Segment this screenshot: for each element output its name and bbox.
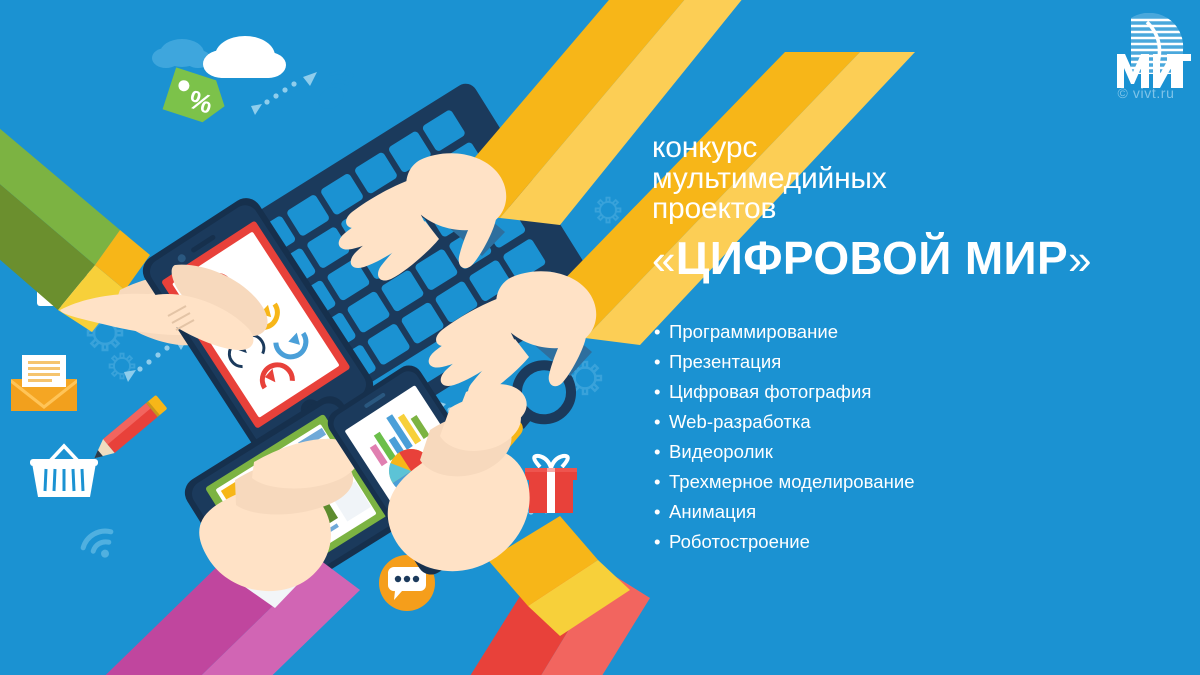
list-item: •Роботостроение (652, 527, 1152, 557)
title-quote-close: » (1068, 236, 1092, 283)
title-text: ЦИФРОВОЙ МИР (676, 232, 1068, 284)
list-item-label: Цифровая фотография (669, 381, 871, 402)
bullet-marker: • (654, 377, 661, 407)
list-item: •Цифровая фотография (652, 377, 1152, 407)
list-item-label: Анимация (669, 501, 756, 522)
list-item: •Видеоролик (652, 437, 1152, 467)
bullet-marker: • (654, 407, 661, 437)
promo-banner: % (0, 0, 1200, 675)
page-title: «ЦИФРОВОЙ МИР» (652, 232, 1152, 286)
bullet-marker: • (654, 347, 661, 377)
category-list: •Программирование •Презентация •Цифровая… (652, 317, 1152, 557)
kicker-line-3: проектов (652, 194, 1152, 225)
kicker-line-2: мультимедийных (652, 164, 1152, 195)
list-item: •Программирование (652, 317, 1152, 347)
list-item-label: Web-разработка (669, 411, 811, 432)
bullet-marker: • (654, 437, 661, 467)
list-item-label: Видеоролик (669, 441, 773, 462)
list-item: •Презентация (652, 347, 1152, 377)
list-item: •Трехмерное моделирование (652, 467, 1152, 497)
logo-copyright: © vivt.ru (1098, 85, 1194, 101)
bullet-marker: • (654, 317, 661, 347)
list-item-label: Презентация (669, 351, 781, 372)
list-item-label: Программирование (669, 321, 838, 342)
bullet-marker: • (654, 527, 661, 557)
list-item: •Web-разработка (652, 407, 1152, 437)
bullet-marker: • (654, 497, 661, 527)
kicker-line-1: конкурс (652, 133, 1152, 164)
headline-block: конкурс мультимедийных проектов «ЦИФРОВО… (652, 133, 1152, 557)
list-item-label: Трехмерное моделирование (669, 471, 915, 492)
title-quote-open: « (652, 236, 676, 283)
bullet-marker: • (654, 467, 661, 497)
list-item: •Анимация (652, 497, 1152, 527)
list-item-label: Роботостроение (669, 531, 810, 552)
